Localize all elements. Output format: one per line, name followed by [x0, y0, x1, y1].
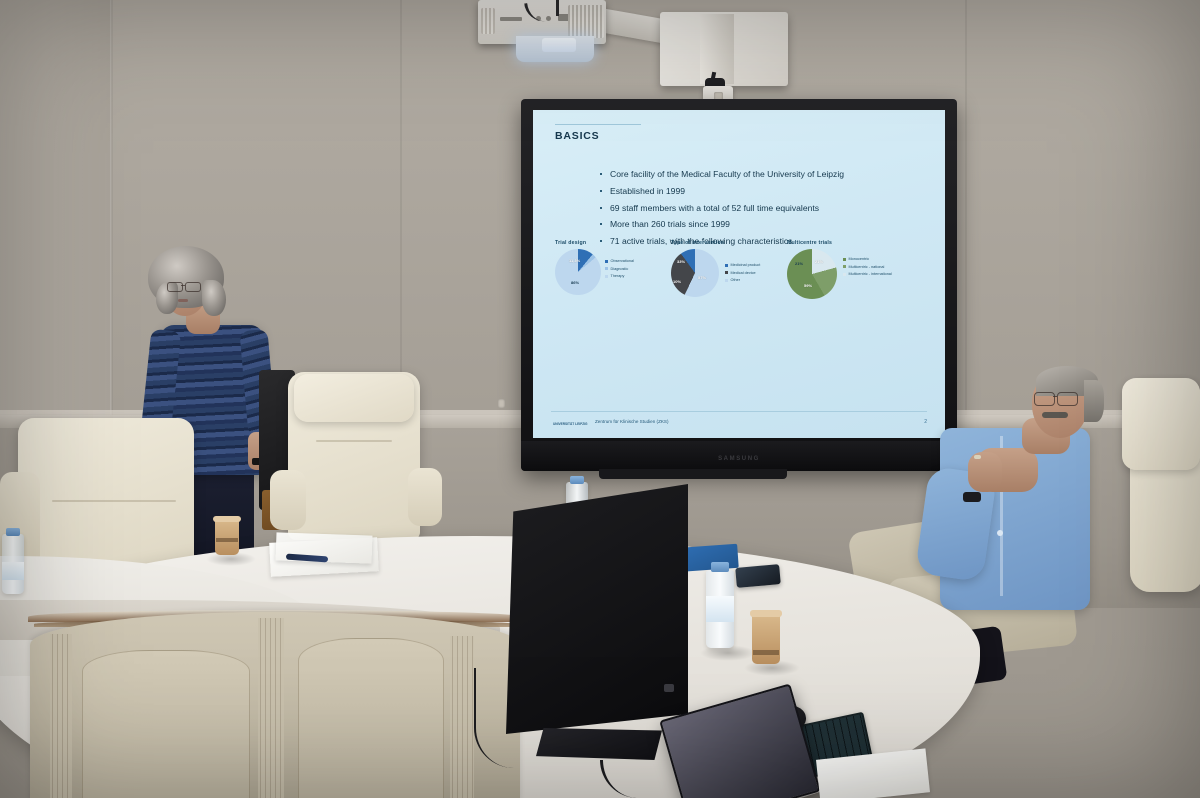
chart-title: Trial design [555, 240, 601, 246]
chair-seam [316, 440, 392, 442]
presenter-mouth [178, 299, 188, 302]
chair-seam [52, 500, 176, 502]
smartphone[interactable] [735, 564, 781, 588]
chair-headrest [294, 374, 414, 422]
wall-socket-left[interactable] [498, 399, 505, 408]
table-flute-left [50, 634, 72, 798]
slide-bullet: 69 staff members with a total of 52 full… [599, 200, 945, 217]
pie-slice-label: 21% [795, 261, 803, 266]
legend-row: Other [725, 277, 760, 285]
meeting-room-photo: BASICS Core facility of the Medical Facu… [0, 0, 1200, 798]
legend-swatch [843, 265, 846, 268]
chart-legend: Monocentric Multicentric - national Mult… [843, 256, 892, 279]
bottle-cap-mid [570, 476, 584, 484]
chair-armrest-left [270, 470, 306, 530]
paper-coffee-cup-left[interactable] [215, 519, 239, 555]
monitor-stand [536, 728, 662, 760]
pie-chart: 11,3% 86% [555, 249, 601, 295]
monitor-cable [474, 668, 536, 768]
slide-charts: Trial design 11,3% 86% Observational Dia… [555, 240, 931, 330]
slide-accent-line [555, 124, 641, 125]
legend-label: Medical device [731, 271, 756, 275]
legend-swatch [605, 260, 608, 263]
legend-row: Medicinal product [725, 262, 760, 270]
legend-swatch [843, 258, 846, 261]
chart-multicentre-trials: Multicentre trials 21% 21% 59% Monocentr… [787, 240, 837, 299]
legend-swatch [725, 271, 728, 274]
projector-lens [542, 38, 576, 52]
legend-label: Therapy [611, 274, 625, 278]
pie-slice-label: 86% [571, 280, 579, 285]
legend-row: Diagnostic [605, 266, 634, 274]
pie-slice-label: 21% [815, 259, 823, 264]
display-mount-tray [599, 469, 787, 479]
projector-cable-drop [556, 0, 559, 16]
legend-label: Diagnostic [611, 267, 629, 271]
pie-chart: 57% 33% 10% [671, 249, 719, 297]
projector-vent-left [481, 8, 495, 34]
legend-row: Observational [605, 258, 634, 266]
slide-footer-text: Zentrum für Klinische Studien (ZKS) [595, 419, 669, 424]
legend-swatch [605, 267, 608, 270]
bottle-label-center [706, 596, 734, 622]
legend-swatch [725, 264, 728, 267]
attendee-hair-side [1084, 380, 1104, 422]
display-bottom-bezel: SAMSUNG [521, 441, 957, 471]
slide-bullet: Core facility of the Medical Faculty of … [599, 166, 945, 183]
pie-slice-label: 10% [673, 279, 681, 284]
presenter-glasses-right-lens [185, 282, 201, 292]
pie-slice-label: 57% [698, 275, 706, 280]
wall-display[interactable]: BASICS Core facility of the Medical Facu… [521, 99, 957, 471]
attendee-shirt-button-2 [997, 530, 1003, 536]
attendee-moustache [1042, 412, 1068, 418]
attendee-ring [974, 455, 981, 459]
presentation-slide: BASICS Core facility of the Medical Facu… [533, 110, 945, 438]
attendee-glasses-right-lens [1057, 392, 1078, 406]
chart-legend: Medicinal product Medical device Other [725, 262, 760, 285]
university-logo: UNIVERSITÄT LEIPZIG [553, 422, 588, 426]
legend-swatch [605, 275, 608, 278]
display-screen: BASICS Core facility of the Medical Facu… [533, 110, 945, 438]
presenter-glasses-bridge [181, 285, 185, 286]
presenter-glasses-left-lens [167, 282, 183, 292]
legend-row: Multicentric - international [843, 271, 892, 279]
slide-footer-divider [551, 411, 927, 412]
chart-type-of-intervention: Type of intervention 57% 33% 10% Medicin… [671, 240, 724, 297]
table-flute-right [450, 636, 474, 798]
slide-bullet: More than 260 trials since 1999 [599, 216, 945, 233]
wall-seam-b [965, 0, 967, 430]
legend-label: Multicentric - international [849, 272, 892, 276]
legend-row: Monocentric [843, 256, 892, 264]
chart-title: Type of intervention [671, 240, 724, 246]
cup-band-right [753, 650, 779, 655]
legend-label: Multicentric - national [849, 265, 885, 269]
projector-port-a [500, 17, 522, 21]
cup-lid-left [213, 516, 241, 522]
legend-label: Medicinal product [731, 263, 761, 267]
legend-row: Medical device [725, 270, 760, 278]
attendee-hand-left [968, 452, 1002, 492]
table-panel-right [298, 638, 444, 798]
attendee-glasses-bridge [1053, 396, 1057, 397]
legend-label: Other [731, 278, 741, 282]
attendee-wristwatch [963, 492, 981, 502]
pie-slice-label: 11,3% [569, 258, 580, 263]
pie-slice-label: 59% [804, 283, 812, 288]
cup-band-left [216, 538, 238, 542]
chart-legend: Observational Diagnostic Therapy [605, 258, 634, 281]
conference-table-base [30, 612, 520, 798]
table-panel-left [82, 650, 250, 798]
legend-row: Multicentric - national [843, 264, 892, 272]
chart-trial-design: Trial design 11,3% 86% Observational Dia… [555, 240, 601, 295]
legend-label: Monocentric [849, 257, 870, 261]
legend-swatch [725, 279, 728, 282]
pie-chart: 21% 21% 59% [787, 249, 837, 299]
attendee-glasses-left-lens [1034, 392, 1055, 406]
projector-bracket-ridge [700, 14, 734, 84]
presenter-hair-side-right [202, 280, 226, 316]
slide-bullet: Established in 1999 [599, 183, 945, 200]
legend-row: Therapy [605, 273, 634, 281]
chair-headrest [1122, 378, 1200, 470]
monitor-power-led [664, 684, 674, 692]
table-flute-mid [258, 618, 284, 798]
bottle-cap-left [6, 528, 20, 536]
slide-bullet-list: Core facility of the Medical Faculty of … [559, 166, 945, 250]
chart-title: Multicentre trials [787, 240, 837, 246]
wall-seam-a [400, 0, 402, 430]
cup-lid-right [750, 610, 782, 617]
legend-label: Observational [611, 259, 634, 263]
bottle-cap-center [711, 562, 729, 572]
bottle-label-left [2, 562, 24, 580]
pie-slice-label: 33% [677, 259, 685, 264]
display-brand-logo: SAMSUNG [718, 456, 760, 462]
legend-swatch [843, 273, 846, 276]
slide-title: BASICS [555, 130, 599, 142]
chair-armrest-right [408, 468, 442, 526]
paper-coffee-cup-right[interactable] [752, 614, 780, 664]
slide-page-number: 2 [924, 419, 927, 425]
